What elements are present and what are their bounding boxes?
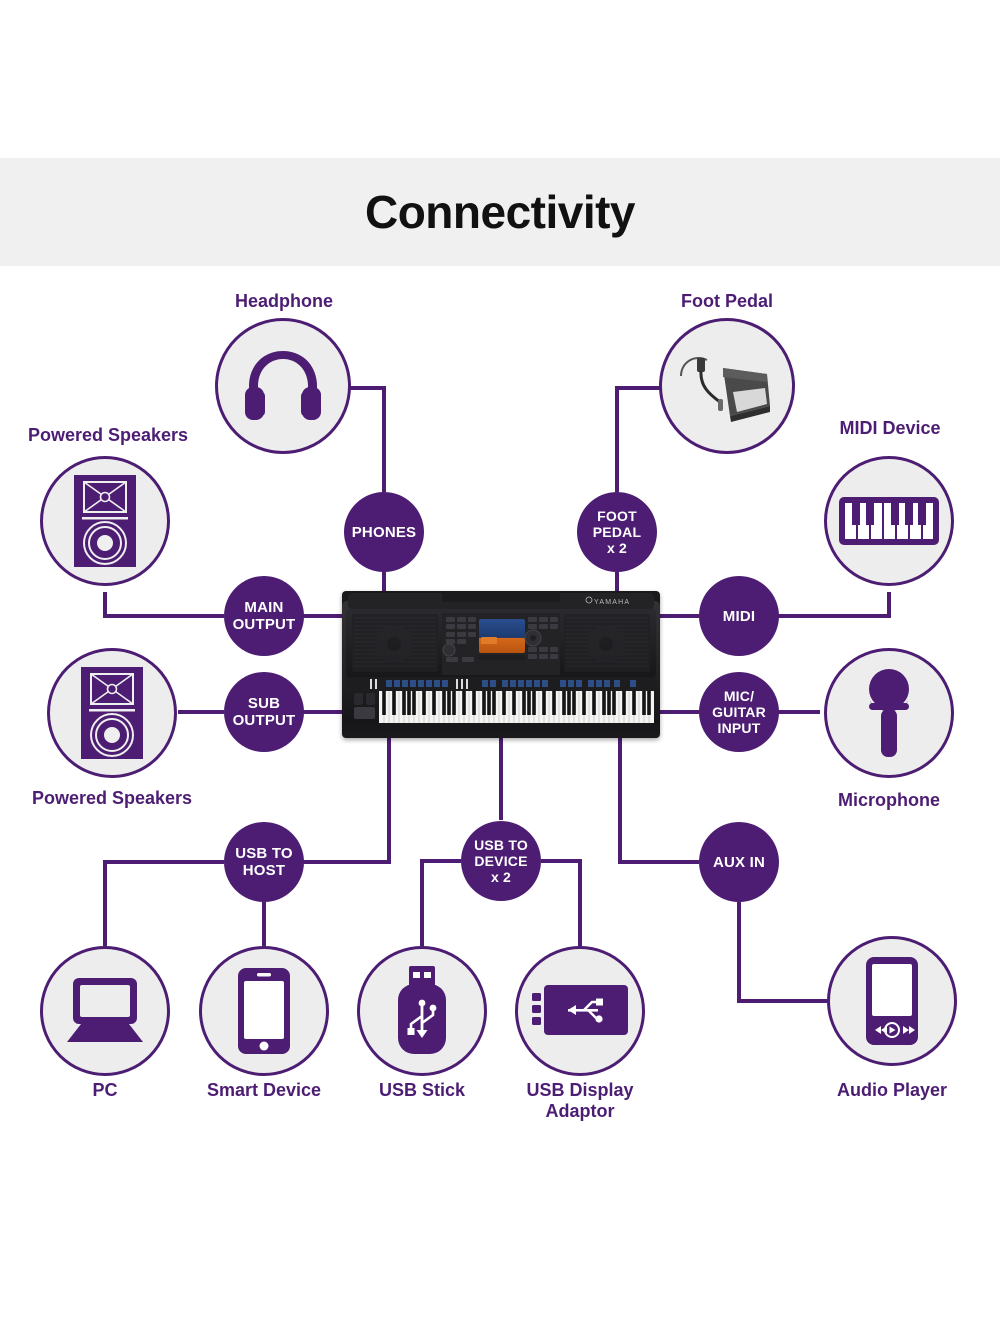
caption-microphone: Microphone bbox=[794, 790, 984, 811]
port-midi[interactable]: MIDI bbox=[699, 576, 779, 656]
port-main-output[interactable]: MAIN OUTPUT bbox=[224, 576, 304, 656]
port-sub-output-label: SUB OUTPUT bbox=[233, 695, 296, 729]
wire-foot-pedal-device-to-port bbox=[617, 388, 662, 492]
caption-usb-stick: USB Stick bbox=[352, 1080, 492, 1101]
port-usb-to-host[interactable]: USB TO HOST bbox=[224, 822, 304, 902]
device-foot-pedal[interactable] bbox=[659, 318, 795, 454]
port-mic-guitar-input-label: MIC/ GUITAR INPUT bbox=[712, 688, 766, 736]
port-usb-to-device[interactable]: USB TO DEVICE x 2 bbox=[461, 821, 541, 901]
device-audio-player[interactable] bbox=[827, 936, 957, 1066]
wire-keyboard-to-usb-host bbox=[303, 738, 389, 862]
yamaha-arranger-keyboard[interactable]: YAMAHA bbox=[342, 591, 660, 738]
port-phones[interactable]: PHONES bbox=[344, 492, 424, 572]
wire-usb-host-to-pc bbox=[105, 862, 224, 946]
device-headphone[interactable] bbox=[215, 318, 351, 454]
wire-keyboard-to-aux-in bbox=[620, 738, 699, 862]
port-midi-label: MIDI bbox=[723, 608, 755, 625]
caption-midi-device: MIDI Device bbox=[795, 418, 985, 439]
port-aux-in[interactable]: AUX IN bbox=[699, 822, 779, 902]
device-powered-speakers-top[interactable] bbox=[40, 456, 170, 586]
wire-headphone-to-phones bbox=[349, 388, 384, 492]
wire-midi-device-to-port bbox=[778, 592, 889, 616]
caption-smart-device: Smart Device bbox=[189, 1080, 339, 1101]
powered-speaker-icon bbox=[74, 475, 136, 567]
port-foot-pedal[interactable]: FOOT PEDAL x 2 bbox=[577, 492, 657, 572]
device-usb-display-adaptor[interactable] bbox=[515, 946, 645, 1076]
wire-usb-device-to-usb-stick bbox=[422, 861, 461, 946]
laptop-icon bbox=[61, 976, 149, 1046]
caption-powered-speakers-bottom: Powered Speakers bbox=[14, 788, 210, 809]
portable-audio-player-icon bbox=[866, 957, 918, 1045]
connectivity-infographic: Connectivity bbox=[0, 0, 1000, 1320]
wire-speakers-top-to-main-output bbox=[105, 592, 224, 616]
caption-foot-pedal: Foot Pedal bbox=[632, 291, 822, 312]
keyboard-photo: YAMAHA bbox=[342, 591, 660, 738]
port-phones-label: PHONES bbox=[352, 524, 417, 541]
headphone-icon bbox=[242, 347, 324, 425]
caption-usb-display-adaptor: USB Display Adaptor bbox=[505, 1080, 655, 1122]
midi-keyboard-icon bbox=[839, 497, 939, 545]
port-mic-guitar-input[interactable]: MIC/ GUITAR INPUT bbox=[699, 672, 779, 752]
svg-text:YAMAHA: YAMAHA bbox=[594, 599, 630, 606]
wire-usb-device-to-usb-display bbox=[541, 861, 580, 946]
device-powered-speakers-bottom[interactable] bbox=[47, 648, 177, 778]
usb-adaptor-icon bbox=[532, 981, 628, 1041]
powered-speaker-icon bbox=[81, 667, 143, 759]
caption-headphone: Headphone bbox=[189, 291, 379, 312]
device-pc[interactable] bbox=[40, 946, 170, 1076]
port-usb-to-host-label: USB TO HOST bbox=[235, 845, 293, 879]
usb-flash-drive-icon bbox=[395, 966, 449, 1056]
device-usb-stick[interactable] bbox=[357, 946, 487, 1076]
port-aux-in-label: AUX IN bbox=[713, 854, 765, 871]
caption-pc: PC bbox=[55, 1080, 155, 1101]
device-midi[interactable] bbox=[824, 456, 954, 586]
device-smart-device[interactable] bbox=[199, 946, 329, 1076]
microphone-icon bbox=[861, 667, 917, 759]
caption-audio-player: Audio Player bbox=[797, 1080, 987, 1101]
smartphone-icon bbox=[238, 968, 290, 1054]
device-microphone[interactable] bbox=[824, 648, 954, 778]
port-foot-pedal-label: FOOT PEDAL x 2 bbox=[593, 508, 641, 556]
port-usb-to-device-label: USB TO DEVICE x 2 bbox=[474, 837, 528, 885]
port-main-output-label: MAIN OUTPUT bbox=[233, 599, 296, 633]
caption-powered-speakers-top: Powered Speakers bbox=[10, 425, 206, 446]
port-sub-output[interactable]: SUB OUTPUT bbox=[224, 672, 304, 752]
wire-aux-in-to-audio-player bbox=[739, 902, 827, 1001]
sustain-pedal-icon bbox=[675, 344, 779, 428]
